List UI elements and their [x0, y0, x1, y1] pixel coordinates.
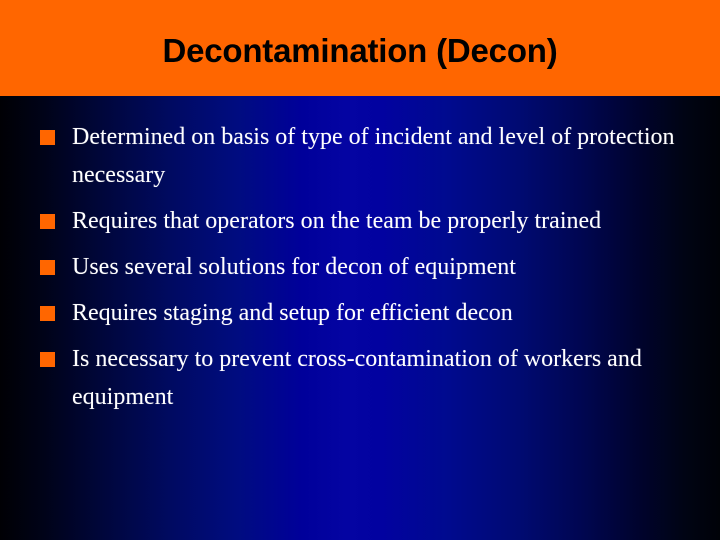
- list-item: Is necessary to prevent cross-contaminat…: [0, 340, 720, 416]
- list-item-label: Requires staging and setup for efficient…: [72, 294, 692, 332]
- list-item: Requires staging and setup for efficient…: [0, 294, 720, 332]
- square-bullet-icon: [40, 352, 55, 367]
- list-item: Determined on basis of type of incident …: [0, 118, 720, 194]
- square-bullet-icon: [40, 130, 55, 145]
- list-item: Uses several solutions for decon of equi…: [0, 248, 720, 286]
- list-item-label: Uses several solutions for decon of equi…: [72, 248, 692, 286]
- list-item: Requires that operators on the team be p…: [0, 202, 720, 240]
- square-bullet-icon: [40, 306, 55, 321]
- list-item-label: Determined on basis of type of incident …: [72, 118, 692, 194]
- square-bullet-icon: [40, 260, 55, 275]
- slide-title-banner: Decontamination (Decon): [0, 0, 720, 96]
- square-bullet-icon: [40, 214, 55, 229]
- list-item-label: Requires that operators on the team be p…: [72, 202, 692, 240]
- slide-title: Decontamination (Decon): [0, 0, 720, 96]
- bullet-list: Determined on basis of type of incident …: [0, 96, 720, 416]
- presentation-slide: Decontamination (Decon) Determined on ba…: [0, 0, 720, 540]
- list-item-label: Is necessary to prevent cross-contaminat…: [72, 340, 692, 416]
